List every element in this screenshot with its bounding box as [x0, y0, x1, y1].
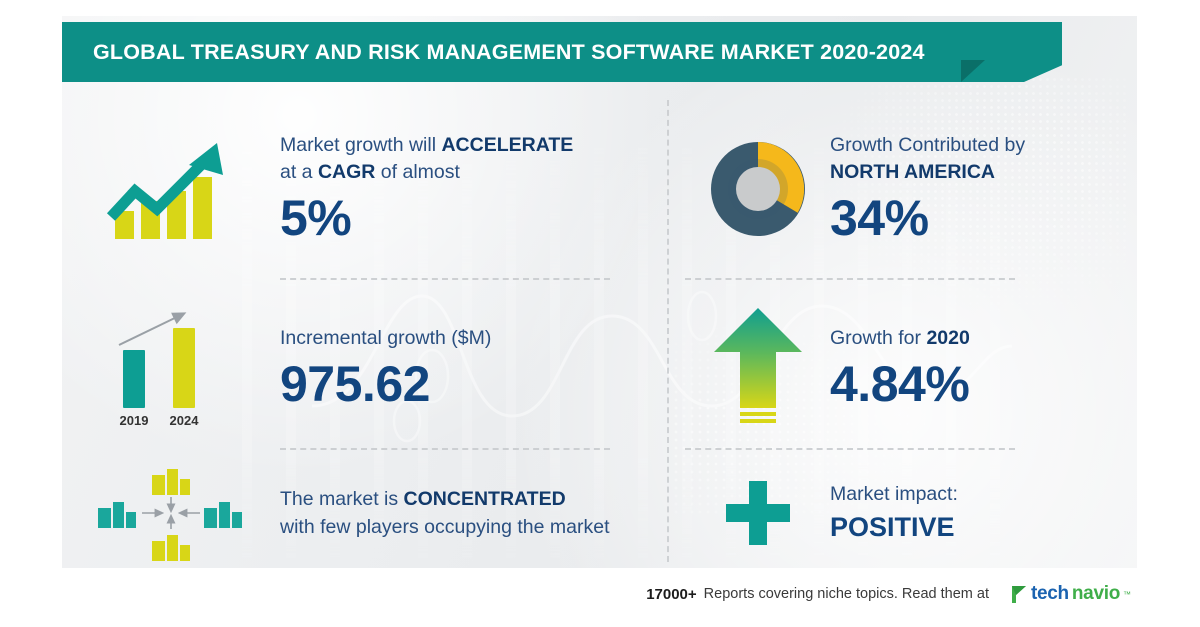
- cagr-lead-prefix: Market growth will: [280, 134, 441, 156]
- growth-2020-year: 2020: [926, 327, 969, 349]
- north-america-label-text: Growth Contributed by: [830, 134, 1025, 156]
- growth-2020-prefix: Growth for: [830, 327, 926, 349]
- market-impact-label: Market impact:: [830, 481, 1137, 508]
- concentration-rest: with few players occupying the market: [280, 516, 609, 538]
- reports-count: 17000+: [646, 586, 696, 603]
- stat-north-america: Growth Contributed by NORTH AMERICA 34%: [685, 100, 1137, 278]
- cagr-lead-text: Market growth will ACCELERATE at a CAGR …: [280, 132, 667, 186]
- footer-tagline: Reports covering niche topics. Read them…: [704, 586, 989, 602]
- donut-chart-icon: [702, 133, 814, 245]
- header-banner: GLOBAL TREASURY AND RISK MANAGEMENT SOFT…: [62, 22, 1062, 82]
- north-america-region: NORTH AMERICA: [830, 161, 995, 183]
- infographic-canvas: GLOBAL TREASURY AND RISK MANAGEMENT SOFT…: [0, 0, 1200, 627]
- north-america-label: Growth Contributed by NORTH AMERICA: [830, 132, 1137, 186]
- content-area: Market growth will ACCELERATE at a CAGR …: [62, 92, 1137, 568]
- plus-icon: [720, 475, 796, 551]
- market-impact-value: POSITIVE: [830, 510, 1137, 544]
- right-column: Growth Contributed by NORTH AMERICA 34%: [667, 92, 1137, 568]
- up-arrow-icon: [710, 304, 806, 432]
- bar-label-2024: 2024: [170, 413, 200, 428]
- incremental-growth-label: Incremental growth ($M): [280, 325, 667, 352]
- footer: 17000+ Reports covering niche topics. Re…: [62, 576, 1137, 612]
- technavio-logo[interactable]: technavio™: [1011, 583, 1131, 605]
- growth-2020-label: Growth for 2020: [830, 325, 1137, 352]
- stat-market-impact: Market impact: POSITIVE: [685, 460, 1137, 565]
- north-america-value: 34%: [830, 190, 1137, 246]
- bar-label-2019: 2019: [120, 413, 149, 428]
- cagr-line2-bold: CAGR: [318, 161, 375, 183]
- two-bar-comparison-icon: 2019 2024: [105, 305, 237, 431]
- cagr-lead-bold: ACCELERATE: [441, 134, 573, 156]
- page-title: GLOBAL TREASURY AND RISK MANAGEMENT SOFT…: [62, 40, 925, 65]
- stat-growth-2020: Growth for 2020 4.84%: [685, 288, 1137, 448]
- left-column: Market growth will ACCELERATE at a CAGR …: [62, 92, 667, 568]
- incremental-growth-value: 975.62: [280, 356, 667, 412]
- logo-trademark: ™: [1123, 590, 1131, 599]
- header-ribbon: GLOBAL TREASURY AND RISK MANAGEMENT SOFT…: [62, 22, 1062, 82]
- growth-arrow-chart-icon: [105, 135, 237, 243]
- concentration-prefix: The market is: [280, 488, 404, 510]
- stat-cagr: Market growth will ACCELERATE at a CAGR …: [62, 100, 667, 278]
- market-concentration-buildings-icon: [96, 463, 246, 563]
- logo-text-navio: navio: [1072, 583, 1120, 605]
- technavio-flag-icon: [1011, 585, 1028, 604]
- cagr-line2-suffix: of almost: [375, 161, 460, 183]
- logo-text-tech: tech: [1031, 583, 1069, 605]
- stat-incremental-growth: 2019 2024 Incremental growth ($M) 975.62: [62, 288, 667, 448]
- concentration-statement: The market is CONCENTRATED with few play…: [280, 485, 667, 541]
- stat-market-concentration: The market is CONCENTRATED with few play…: [62, 460, 667, 565]
- cagr-line2-prefix: at a: [280, 161, 318, 183]
- growth-2020-value: 4.84%: [830, 356, 1137, 412]
- concentration-bold: CONCENTRATED: [404, 488, 566, 510]
- cagr-value: 5%: [280, 190, 667, 246]
